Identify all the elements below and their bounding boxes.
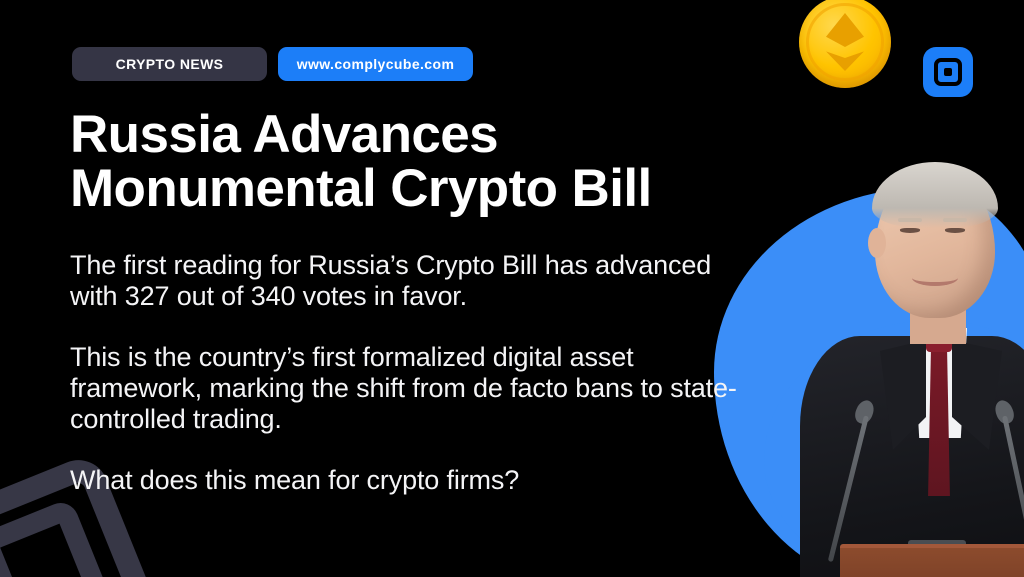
content-block: Russia Advances Monumental Crypto Bill T… [70,108,760,496]
category-badge[interactable]: CRYPTO NEWS [72,47,267,81]
watermark-inner-square [0,498,110,577]
website-badge-label: www.complycube.com [297,56,455,72]
ethereum-symbol [826,13,864,71]
body-paragraph-1: The first reading for Russia’s Crypto Bi… [70,250,760,312]
eye-left [900,228,920,233]
website-badge[interactable]: www.complycube.com [278,47,473,81]
podium [840,548,1024,577]
social-card: CRYPTO NEWS www.complycube.com Russia Ad… [0,0,1024,577]
page-title: Russia Advances Monumental Crypto Bill [70,108,760,216]
headline-line-2: Monumental Crypto Bill [70,162,760,216]
eye-right [945,228,965,233]
body-paragraph-2: This is the country’s first formalized d… [70,342,760,435]
ethereum-symbol-bottom [826,47,864,71]
hair [872,162,998,228]
badge-row: CRYPTO NEWS www.complycube.com [72,47,473,81]
complycube-logo-icon [923,47,973,97]
eyebrow-right [943,218,967,222]
mouth [912,270,958,286]
speaker-photo [760,150,1024,577]
category-badge-label: CRYPTO NEWS [116,56,224,72]
eyebrow-left [898,218,922,222]
logo-center-dot [944,68,952,76]
headline-line-1: Russia Advances [70,108,760,162]
ear [868,228,886,258]
ethereum-symbol-top [826,13,864,47]
ethereum-coin-icon [799,0,891,88]
body-paragraph-3: What does this mean for crypto firms? [70,465,760,496]
body-copy: The first reading for Russia’s Crypto Bi… [70,250,760,496]
